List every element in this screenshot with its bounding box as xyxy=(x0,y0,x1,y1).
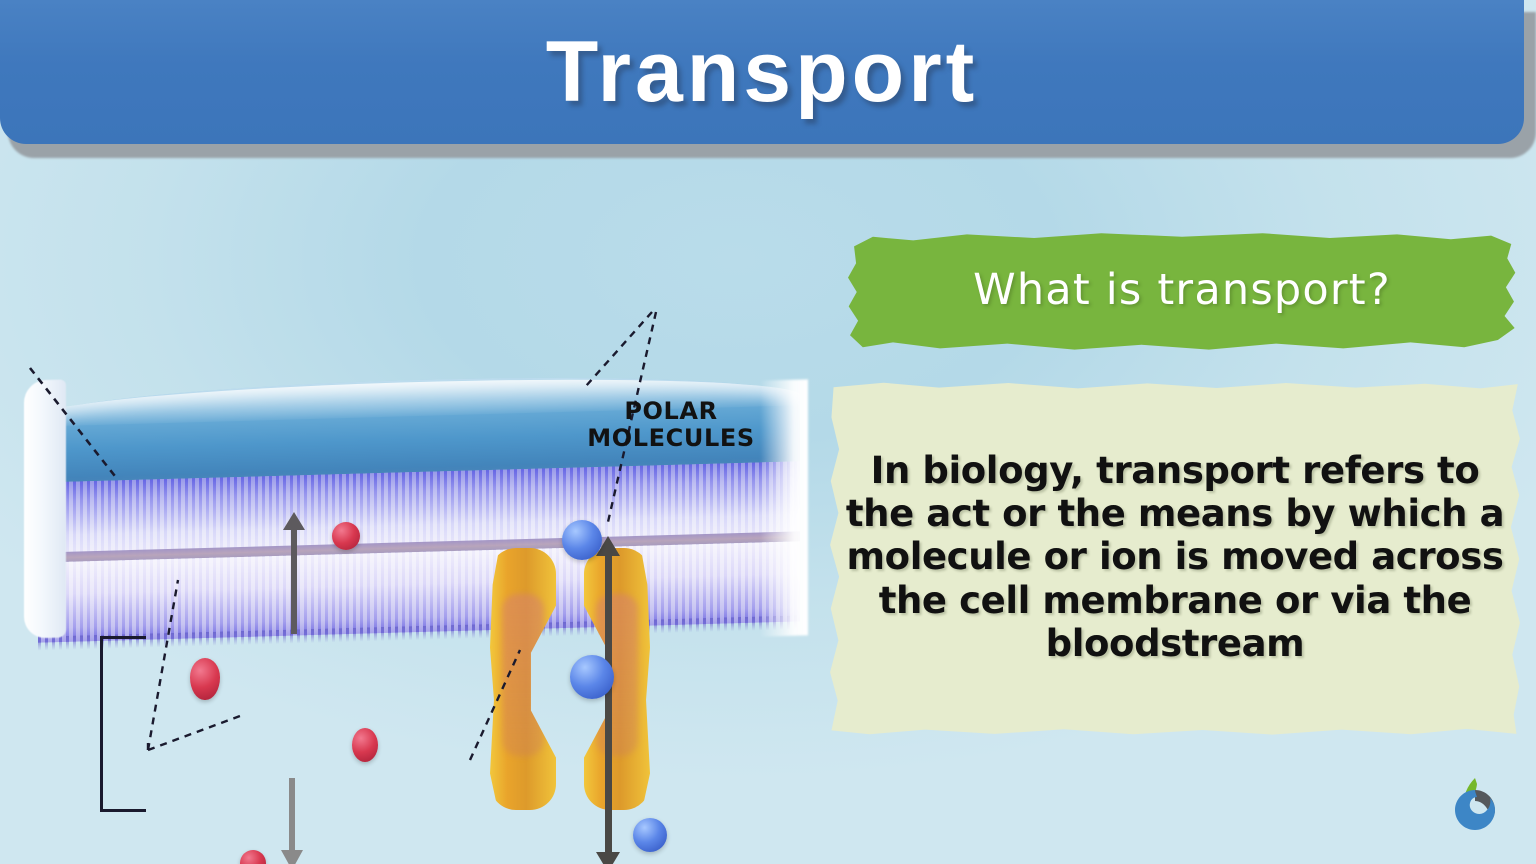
bracket-bottom-bar xyxy=(100,809,146,812)
channel-arrow-down-head xyxy=(596,852,620,864)
fat-soluble-molecule xyxy=(352,728,378,762)
definition-card: In biology, transport refers to the act … xyxy=(828,382,1522,736)
label-polar-molecules-line2: MOLECULES xyxy=(587,424,754,452)
bracket-vertical-bar xyxy=(100,636,103,812)
leader-line-fat-soluble-lower xyxy=(148,716,240,750)
question-banner-text: What is transport? xyxy=(846,232,1518,352)
diffusion-arrow-up-shaft xyxy=(291,522,297,634)
bilayer-bracket xyxy=(100,636,146,812)
membrane-cut-face-left xyxy=(24,379,66,638)
label-polar-molecules: POLAR MOLECULES xyxy=(556,398,786,453)
polar-molecule xyxy=(562,520,602,560)
channel-arrow-shaft xyxy=(605,548,612,864)
polar-molecule xyxy=(570,655,614,699)
fat-soluble-molecule xyxy=(332,522,360,550)
label-polar-molecules-line1: POLAR xyxy=(624,397,717,425)
bracket-top-bar xyxy=(100,636,146,639)
polar-molecule xyxy=(633,818,667,852)
definition-text: In biology, transport refers to the act … xyxy=(828,382,1522,736)
channel-protein-subunit-left xyxy=(490,548,556,810)
page-title: Transport xyxy=(546,29,979,115)
diffusion-arrow-down-shaft xyxy=(289,778,295,858)
header-banner: Transport xyxy=(0,0,1524,144)
slide-canvas: Transport xyxy=(0,0,1536,864)
cell-membrane-diagram: POLAR MOLECULES Fat soluble molecules Ch… xyxy=(0,150,830,864)
question-banner: What is transport? xyxy=(846,232,1518,352)
leader-line-polar-upper xyxy=(586,312,652,386)
fat-soluble-molecule xyxy=(190,658,220,700)
biology-online-b-logo[interactable] xyxy=(1444,772,1506,842)
fat-soluble-molecule xyxy=(240,850,266,864)
